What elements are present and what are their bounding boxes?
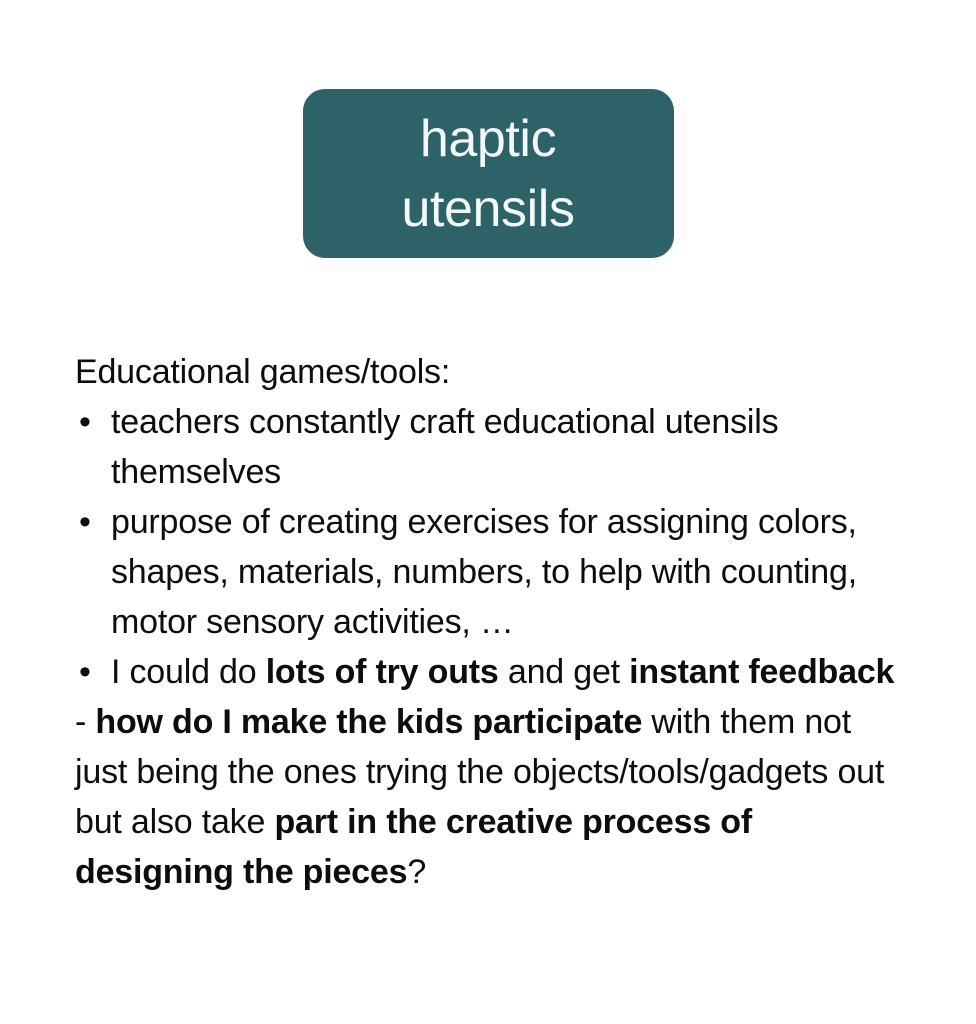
title-line-1: haptic xyxy=(420,104,556,174)
bullet-list: • teachers constantly craft educational … xyxy=(75,397,905,697)
list-item: • purpose of creating exercises for assi… xyxy=(75,497,905,647)
body-content: Educational games/tools: • teachers cons… xyxy=(75,347,905,897)
slide-canvas: haptic utensils Educational games/tools:… xyxy=(0,0,976,1024)
bullet-text: purpose of creating exercises for assign… xyxy=(111,503,857,641)
bullet-dot-icon: • xyxy=(79,497,91,547)
bullet-text: teachers constantly craft educational ut… xyxy=(111,403,778,491)
title-line-2: utensils xyxy=(401,174,574,244)
bullet-dot-icon: • xyxy=(79,647,91,697)
bullet-dot-icon: • xyxy=(79,397,91,447)
list-item: • teachers constantly craft educational … xyxy=(75,397,905,497)
title-card: haptic utensils xyxy=(303,89,674,258)
title-card-container: haptic utensils xyxy=(0,89,976,258)
list-item: • I could do lots of try outs and get in… xyxy=(75,647,905,697)
closing-paragraph: - how do I make the kids participate wit… xyxy=(75,697,905,897)
body-lead-text: Educational games/tools: xyxy=(75,347,905,397)
bullet-text: I could do lots of try outs and get inst… xyxy=(111,653,894,691)
